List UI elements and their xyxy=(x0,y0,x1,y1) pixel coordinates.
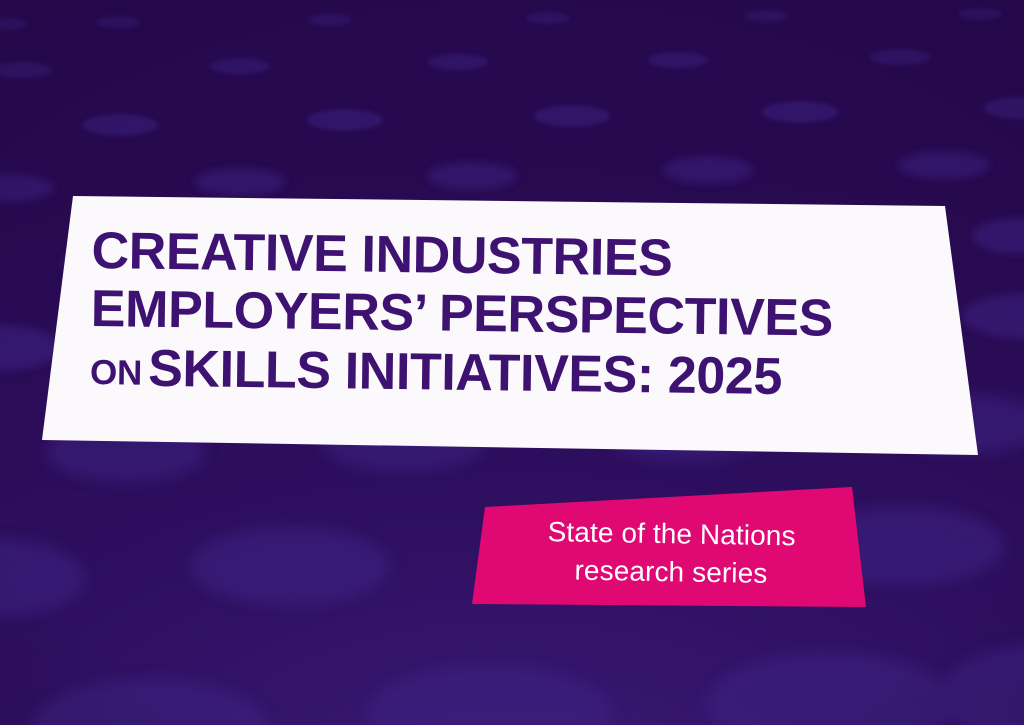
badge-line-2: research series xyxy=(485,550,858,594)
title-line-3: ONSKILLS INITIATIVES: 2025 xyxy=(90,339,951,414)
title-line-3-main: SKILLS INITIATIVES: 2025 xyxy=(148,340,783,406)
title-block: CREATIVE INDUSTRIES EMPLOYERS’ PERSPECTI… xyxy=(90,222,952,414)
poster-canvas: CREATIVE INDUSTRIES EMPLOYERS’ PERSPECTI… xyxy=(0,0,1024,725)
badge-text-block: State of the Nations research series xyxy=(485,512,858,594)
title-on-word: ON xyxy=(90,353,149,393)
title-line-2: EMPLOYERS’ PERSPECTIVES xyxy=(90,280,951,349)
badge-line-1: State of the Nations xyxy=(485,512,858,556)
